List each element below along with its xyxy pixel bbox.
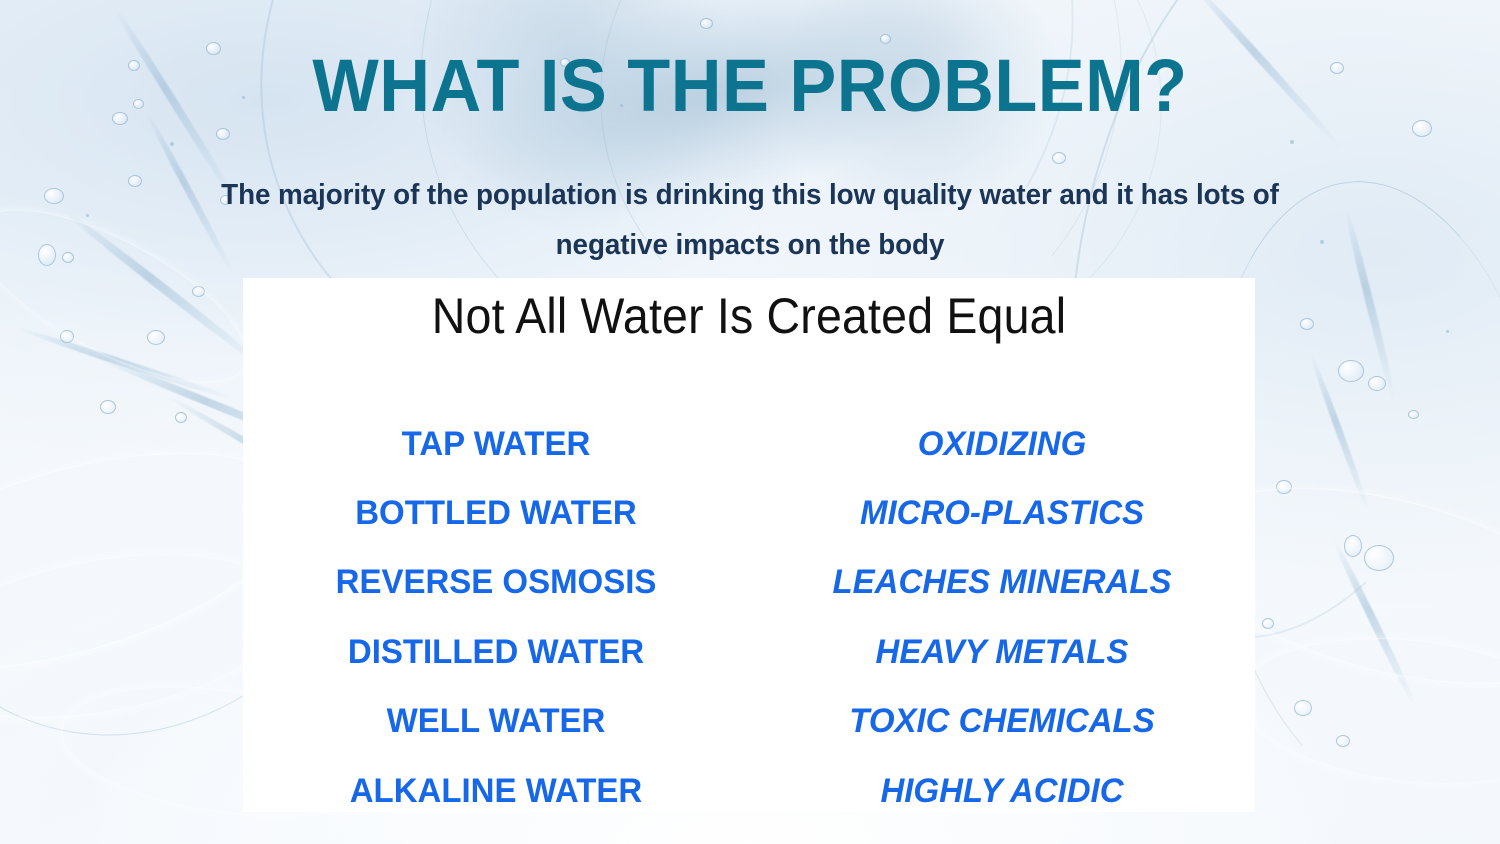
- speck: [170, 142, 174, 146]
- table-row: WELL WATER TOXIC CHEMICALS: [243, 687, 1255, 756]
- spray-streak-7: [1342, 206, 1398, 402]
- droplet: [1338, 360, 1364, 382]
- water-problem-label: OXIDIZING: [757, 427, 1248, 461]
- droplet: [175, 412, 187, 423]
- droplet: [700, 18, 713, 29]
- slide-canvas: WHAT IS THE PROBLEM? The majority of the…: [0, 0, 1500, 844]
- speck: [86, 214, 89, 217]
- droplet: [62, 252, 74, 263]
- water-problem-label: TOXIC CHEMICALS: [757, 704, 1248, 738]
- water-type-label: WELL WATER: [251, 704, 742, 738]
- card-title: Not All Water Is Created Equal: [278, 288, 1219, 346]
- droplet: [192, 286, 205, 297]
- droplet: [1294, 700, 1312, 716]
- droplet: [1262, 618, 1274, 629]
- droplet: [1300, 318, 1314, 330]
- spray-streak-4: [15, 325, 236, 403]
- droplet: [1408, 410, 1419, 419]
- droplet: [44, 188, 64, 204]
- droplet: [1364, 545, 1394, 571]
- speck: [1290, 140, 1294, 144]
- table-row: REVERSE OSMOSIS LEACHES MINERALS: [243, 548, 1255, 617]
- water-type-label: ALKALINE WATER: [251, 774, 742, 808]
- page-subtitle: The majority of the population is drinki…: [174, 171, 1326, 271]
- water-problem-label: MICRO-PLASTICS: [757, 496, 1248, 530]
- droplet: [880, 34, 891, 44]
- table-row: BOTTLED WATER MICRO-PLASTICS: [243, 478, 1255, 547]
- table-row: TAP WATER OXIDIZING: [243, 409, 1255, 478]
- table-row: ALKALINE WATER HIGHLY ACIDIC: [243, 756, 1255, 825]
- water-type-label: DISTILLED WATER: [251, 635, 742, 669]
- water-problem-label: HIGHLY ACIDIC: [757, 774, 1248, 808]
- droplet: [1368, 376, 1386, 391]
- surface-ripple-5: [1234, 623, 1500, 800]
- droplet: [100, 400, 116, 414]
- droplet: [60, 330, 74, 343]
- comparison-card: Not All Water Is Created Equal TAP WATER…: [243, 278, 1255, 812]
- droplet: [1052, 152, 1066, 164]
- water-problem-label: LEACHES MINERALS: [757, 565, 1248, 599]
- spray-streak-8: [1308, 352, 1373, 514]
- water-type-label: REVERSE OSMOSIS: [251, 565, 742, 599]
- spray-streak-9: [1330, 537, 1420, 711]
- droplet: [147, 330, 165, 345]
- table-row: DISTILLED WATER HEAVY METALS: [243, 617, 1255, 686]
- droplet: [1344, 535, 1362, 557]
- droplet: [1336, 735, 1350, 747]
- comparison-table: TAP WATER OXIDIZING BOTTLED WATER MICRO-…: [243, 409, 1255, 825]
- speck: [1446, 330, 1449, 333]
- droplet: [216, 128, 230, 140]
- droplet: [38, 244, 56, 266]
- water-type-label: BOTTLED WATER: [251, 496, 742, 530]
- droplet: [1276, 480, 1292, 494]
- droplet: [128, 175, 142, 187]
- page-title: WHAT IS THE PROBLEM?: [38, 49, 1463, 123]
- water-problem-label: HEAVY METALS: [757, 635, 1248, 669]
- water-type-label: TAP WATER: [251, 427, 742, 461]
